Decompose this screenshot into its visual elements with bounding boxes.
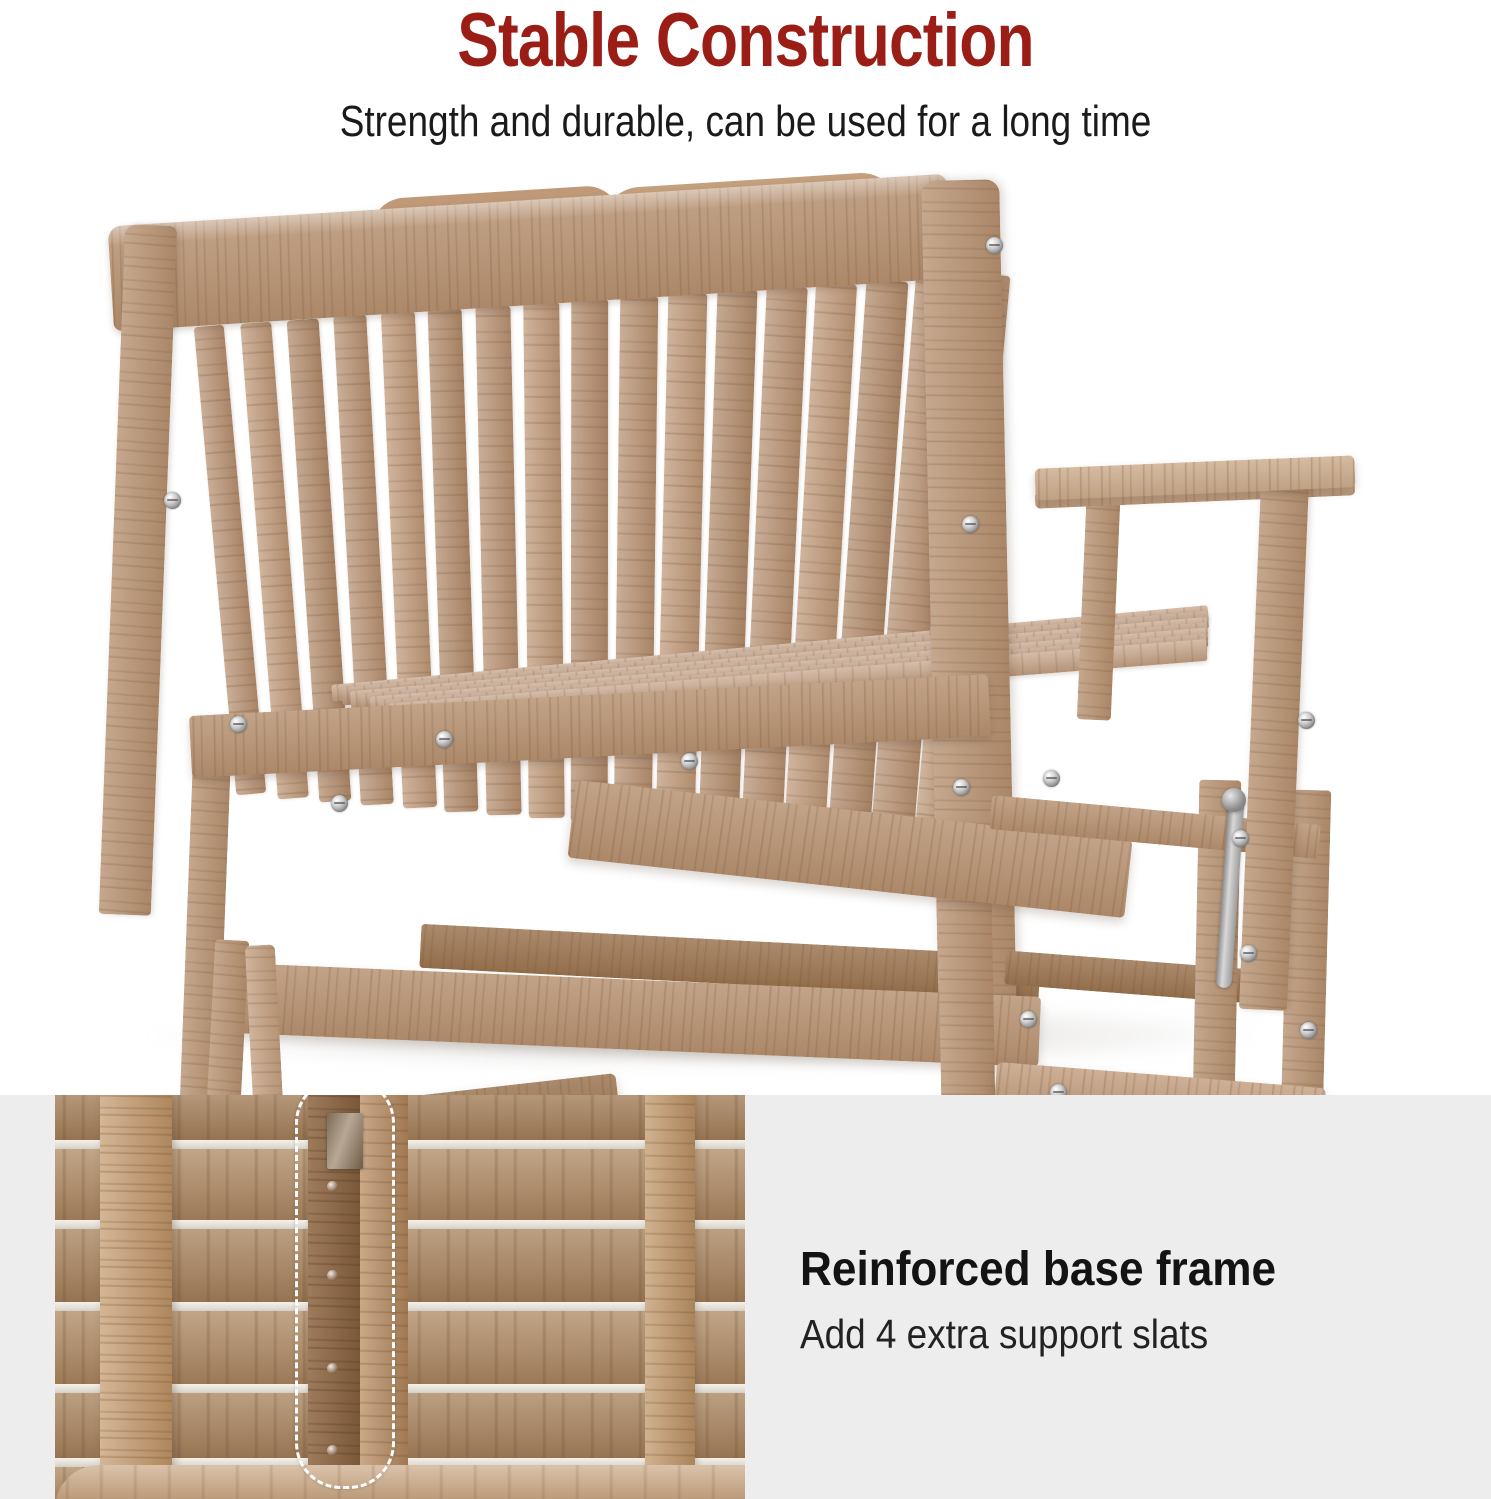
center-rear-leg [937, 870, 997, 1095]
closeup-bottom-rail [55, 1465, 745, 1499]
screw-icon [230, 716, 247, 733]
screw-icon [1232, 830, 1249, 847]
glider-pivot-bolt [1222, 788, 1246, 812]
detail-caption-subtitle: Add 4 extra support slats [800, 1313, 1385, 1356]
product-hero-image [0, 170, 1491, 1095]
screw-icon [164, 492, 181, 509]
screw-icon [331, 795, 348, 812]
highlight-dashed-outline [295, 1095, 395, 1489]
base-frame-closeup-photo [55, 1095, 745, 1499]
screw-icon [1043, 770, 1060, 787]
screw-icon [1298, 712, 1315, 729]
screw-icon [962, 516, 979, 533]
closeup-right-post [645, 1095, 695, 1499]
detail-panel: Reinforced base frame Add 4 extra suppor… [0, 1095, 1491, 1499]
screw-icon [681, 753, 698, 770]
screw-icon [986, 237, 1003, 254]
detail-caption-title: Reinforced base frame [800, 1245, 1398, 1295]
screw-icon [1240, 945, 1257, 962]
screw-icon [1020, 1011, 1037, 1028]
screw-icon [953, 779, 970, 796]
screw-icon [436, 731, 453, 748]
page-title: Stable Construction [134, 0, 1357, 80]
header-banner: Stable Construction Strength and durable… [0, 0, 1491, 170]
detail-caption: Reinforced base frame Add 4 extra suppor… [800, 1245, 1450, 1356]
page-subtitle: Strength and durable, can be used for a … [119, 98, 1371, 146]
closeup-left-post [100, 1095, 172, 1499]
screw-icon [1300, 1022, 1317, 1039]
screw-icon [1050, 1084, 1067, 1095]
